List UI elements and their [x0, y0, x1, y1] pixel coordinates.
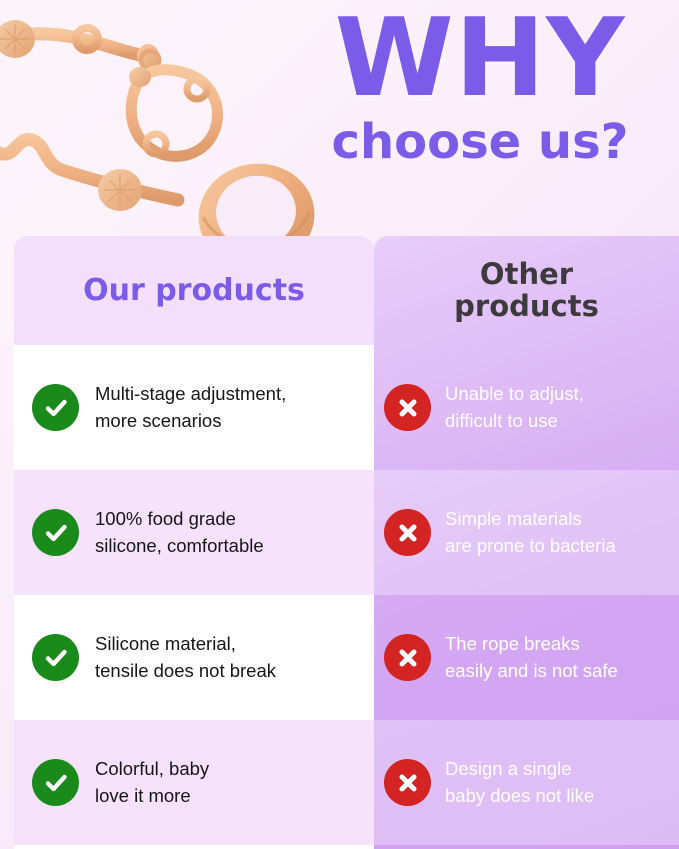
list-item-label: Unable to adjust, difficult to use: [445, 381, 584, 434]
list-item-label: Multi-stage adjustment, more scenarios: [95, 381, 286, 434]
other-products-rows: Unable to adjust, difficult to use Simpl…: [374, 345, 679, 849]
list-item-label: Silicone material, tensile does not brea…: [95, 631, 276, 684]
list-item: Multi-stage adjustment, more scenarios: [14, 345, 374, 470]
other-products-column: Other products Unable to adjust, difficu…: [374, 236, 679, 849]
list-item: Simple materials are prone to bacteria: [374, 470, 679, 595]
list-item-label: Design a single baby does not like: [445, 756, 594, 809]
check-circle-icon: [32, 634, 79, 681]
other-products-title: Other products: [454, 259, 599, 322]
headline: WHY choose us?: [290, 8, 670, 167]
other-products-header: Other products: [374, 236, 679, 345]
check-circle-icon: [32, 509, 79, 556]
our-products-header: Our products: [14, 236, 374, 345]
x-circle-icon: [384, 759, 431, 806]
list-item-partial: [374, 845, 679, 849]
headline-secondary: choose us?: [290, 117, 670, 167]
our-products-column: Our products Multi-stage adjustment, mor…: [14, 236, 374, 849]
list-item: Unable to adjust, difficult to use: [374, 345, 679, 470]
our-products-rows: Multi-stage adjustment, more scenarios 1…: [14, 345, 374, 849]
list-item-partial: [14, 845, 374, 849]
x-circle-icon: [384, 384, 431, 431]
infographic-poster: WHY choose us? Our products Multi-stage …: [0, 0, 679, 849]
list-item-label: 100% food grade silicone, comfortable: [95, 506, 264, 559]
list-item: Silicone material, tensile does not brea…: [14, 595, 374, 720]
x-circle-icon: [384, 509, 431, 556]
list-item-label: Colorful, baby love it more: [95, 756, 209, 809]
list-item: Design a single baby does not like: [374, 720, 679, 845]
list-item-label: The rope breaks easily and is not safe: [445, 631, 618, 684]
headline-primary: WHY: [290, 8, 670, 111]
x-circle-icon: [384, 634, 431, 681]
check-circle-icon: [32, 384, 79, 431]
list-item: Colorful, baby love it more: [14, 720, 374, 845]
list-item-label: Simple materials are prone to bacteria: [445, 506, 616, 559]
list-item: The rope breaks easily and is not safe: [374, 595, 679, 720]
check-circle-icon: [32, 759, 79, 806]
comparison-table: Our products Multi-stage adjustment, mor…: [0, 236, 679, 849]
list-item: 100% food grade silicone, comfortable: [14, 470, 374, 595]
our-products-title: Our products: [83, 274, 305, 307]
